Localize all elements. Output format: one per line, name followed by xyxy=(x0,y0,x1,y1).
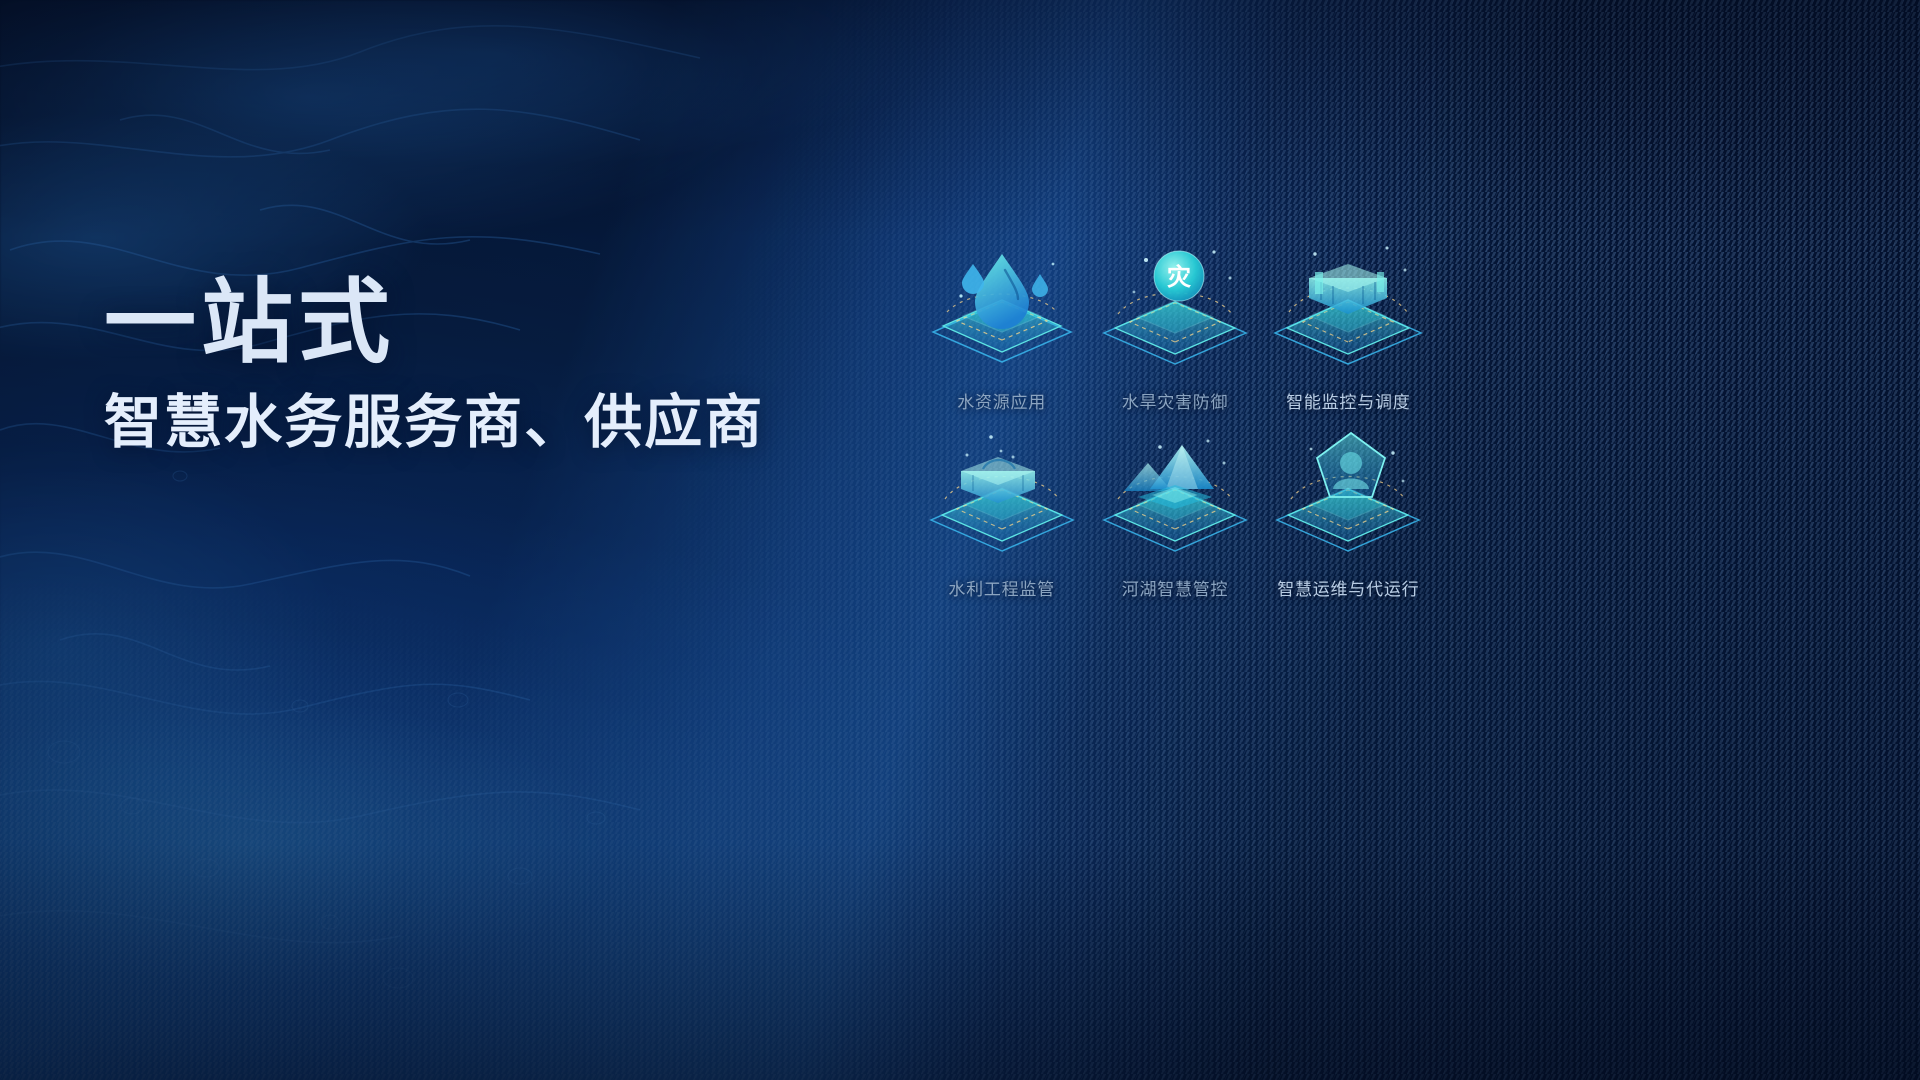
service-label: 水利工程监管 xyxy=(948,575,1055,600)
service-item-smart-ops[interactable]: 智慧运维与代运行 xyxy=(1262,419,1435,600)
service-item-river-lake-control[interactable]: 河湖智慧管控 xyxy=(1088,419,1261,600)
water-drop-platform-icon xyxy=(917,236,1087,386)
page-title: 一站式 xyxy=(104,276,884,372)
service-label: 智能监控与调度 xyxy=(1286,388,1410,413)
hero-text-block: 一站式 智慧水务服务商、供应商 xyxy=(104,276,884,456)
river-lake-platform-icon xyxy=(1090,423,1260,573)
shield-ops-platform-icon xyxy=(1263,423,1433,573)
service-label: 河湖智慧管控 xyxy=(1122,575,1229,600)
service-item-water-resource[interactable]: 水资源应用 xyxy=(915,232,1088,413)
service-label: 水资源应用 xyxy=(957,388,1046,413)
service-item-flood-drought-defense[interactable]: 灾 水旱灾害防御 xyxy=(1088,232,1261,413)
page-subtitle: 智慧水务服务商、供应商 xyxy=(104,390,884,456)
disaster-badge-char: 灾 xyxy=(1167,263,1191,291)
service-label: 水旱灾害防御 xyxy=(1122,388,1229,413)
service-item-smart-monitoring-dispatch[interactable]: 智能监控与调度 xyxy=(1262,232,1435,413)
disaster-sphere-platform-icon: 灾 xyxy=(1090,236,1260,386)
hydro-works-platform-icon xyxy=(917,423,1087,573)
service-label: 智慧运维与代运行 xyxy=(1277,575,1419,600)
dam-control-platform-icon xyxy=(1263,236,1433,386)
service-item-hydro-project-supervision[interactable]: 水利工程监管 xyxy=(915,419,1088,600)
service-icon-grid: 水资源应用 xyxy=(915,232,1435,600)
